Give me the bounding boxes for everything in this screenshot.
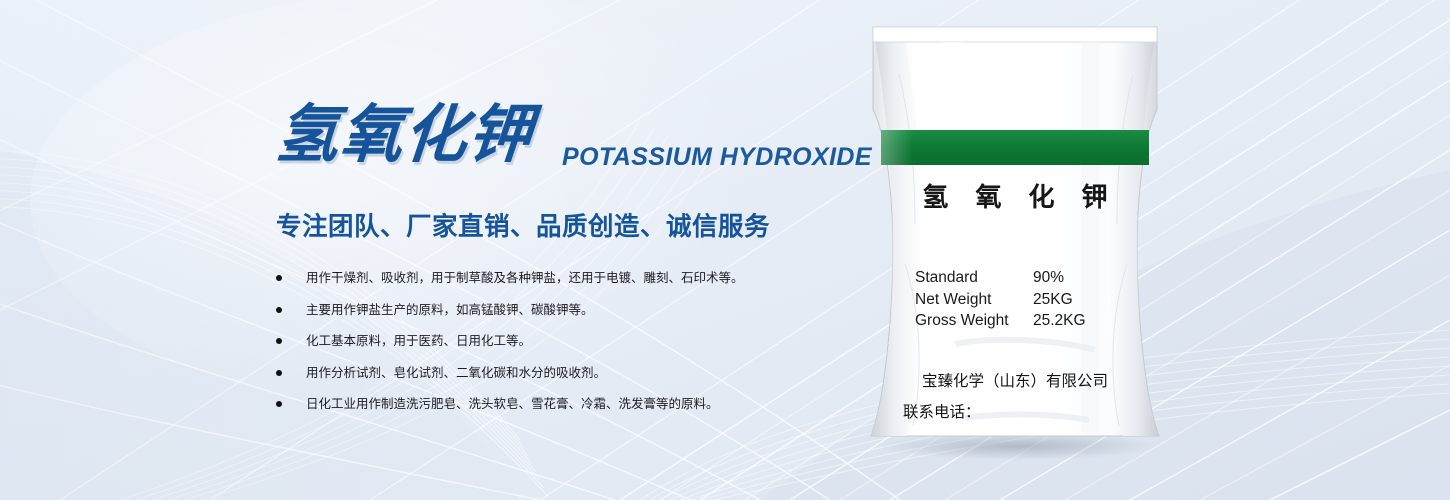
bag-green-band — [881, 130, 1149, 165]
list-item: 用作干燥剂、吸收剂，用于制草酸及各种钾盐，还用于电镀、雕刻、石印术等。 — [276, 270, 856, 285]
feature-list: 用作干燥剂、吸收剂，用于制草酸及各种钾盐，还用于电镀、雕刻、石印术等。 主要用作… — [276, 270, 856, 411]
feature-text: 日化工业用作制造洗污肥皂、洗头软皂、雪花膏、冷霜、洗发膏等的原料。 — [306, 396, 719, 411]
table-row: Gross Weight 25.2KG — [915, 310, 1140, 332]
english-subtitle: POTASSIUM HYDROXIDE — [562, 143, 872, 172]
spec-value: 25.2KG — [1033, 310, 1140, 332]
spec-value: 25KG — [1033, 289, 1140, 311]
product-bag: 氢 氧 化 钾 Standard 90% Net Weight 25KG Gro… — [845, 14, 1185, 464]
title-row: 氢氧化钾 POTASSIUM HYDROXIDE — [276, 96, 856, 180]
spec-value: 90% — [1033, 267, 1140, 289]
spec-label: Standard — [915, 267, 1033, 289]
feature-text: 化工基本原料，用于医药、日用化工等。 — [306, 333, 531, 348]
list-item: 主要用作钾盐生产的原料，如高锰酸钾、碳酸钾等。 — [276, 302, 856, 317]
slogan: 专注团队、厂家直销、品质创造、诚信服务 — [276, 206, 856, 243]
bullet-dot-icon — [276, 275, 282, 281]
feature-text: 主要用作钾盐生产的原料，如高锰酸钾、碳酸钾等。 — [306, 302, 594, 317]
bullet-dot-icon — [276, 338, 282, 344]
feature-text: 用作分析试剂、皂化试剂、二氧化碳和水分的吸收剂。 — [306, 365, 606, 380]
spec-label: Net Weight — [915, 289, 1033, 311]
product-banner: 氢氧化钾 POTASSIUM HYDROXIDE 专注团队、厂家直销、品质创造、… — [0, 0, 1450, 500]
list-item: 日化工业用作制造洗污肥皂、洗头软皂、雪花膏、冷霜、洗发膏等的原料。 — [276, 396, 856, 411]
band-gloss — [881, 130, 913, 165]
bag-company-name: 宝臻化学（山东）有限公司 — [881, 369, 1149, 391]
list-item: 化工基本原料，用于医药、日用化工等。 — [276, 333, 856, 348]
bag-phone-label: 联系电话： — [903, 400, 981, 422]
bullet-dot-icon — [276, 307, 282, 313]
spec-label: Gross Weight — [915, 310, 1033, 332]
bullet-dot-icon — [276, 401, 282, 407]
page-title: 氢氧化钾 — [273, 96, 536, 174]
bag-spec-table: Standard 90% Net Weight 25KG Gross Weigh… — [915, 267, 1140, 332]
list-item: 用作分析试剂、皂化试剂、二氧化碳和水分的吸收剂。 — [276, 365, 856, 380]
headline-block: 氢氧化钾 POTASSIUM HYDROXIDE 专注团队、厂家直销、品质创造、… — [276, 96, 856, 428]
bullet-dot-icon — [276, 370, 282, 376]
bag-product-name: 氢 氧 化 钾 — [881, 177, 1149, 214]
table-row: Net Weight 25KG — [915, 289, 1140, 311]
bag-shape-icon — [845, 14, 1185, 464]
table-row: Standard 90% — [915, 267, 1140, 289]
feature-text: 用作干燥剂、吸收剂，用于制草酸及各种钾盐，还用于电镀、雕刻、石印术等。 — [306, 270, 744, 285]
